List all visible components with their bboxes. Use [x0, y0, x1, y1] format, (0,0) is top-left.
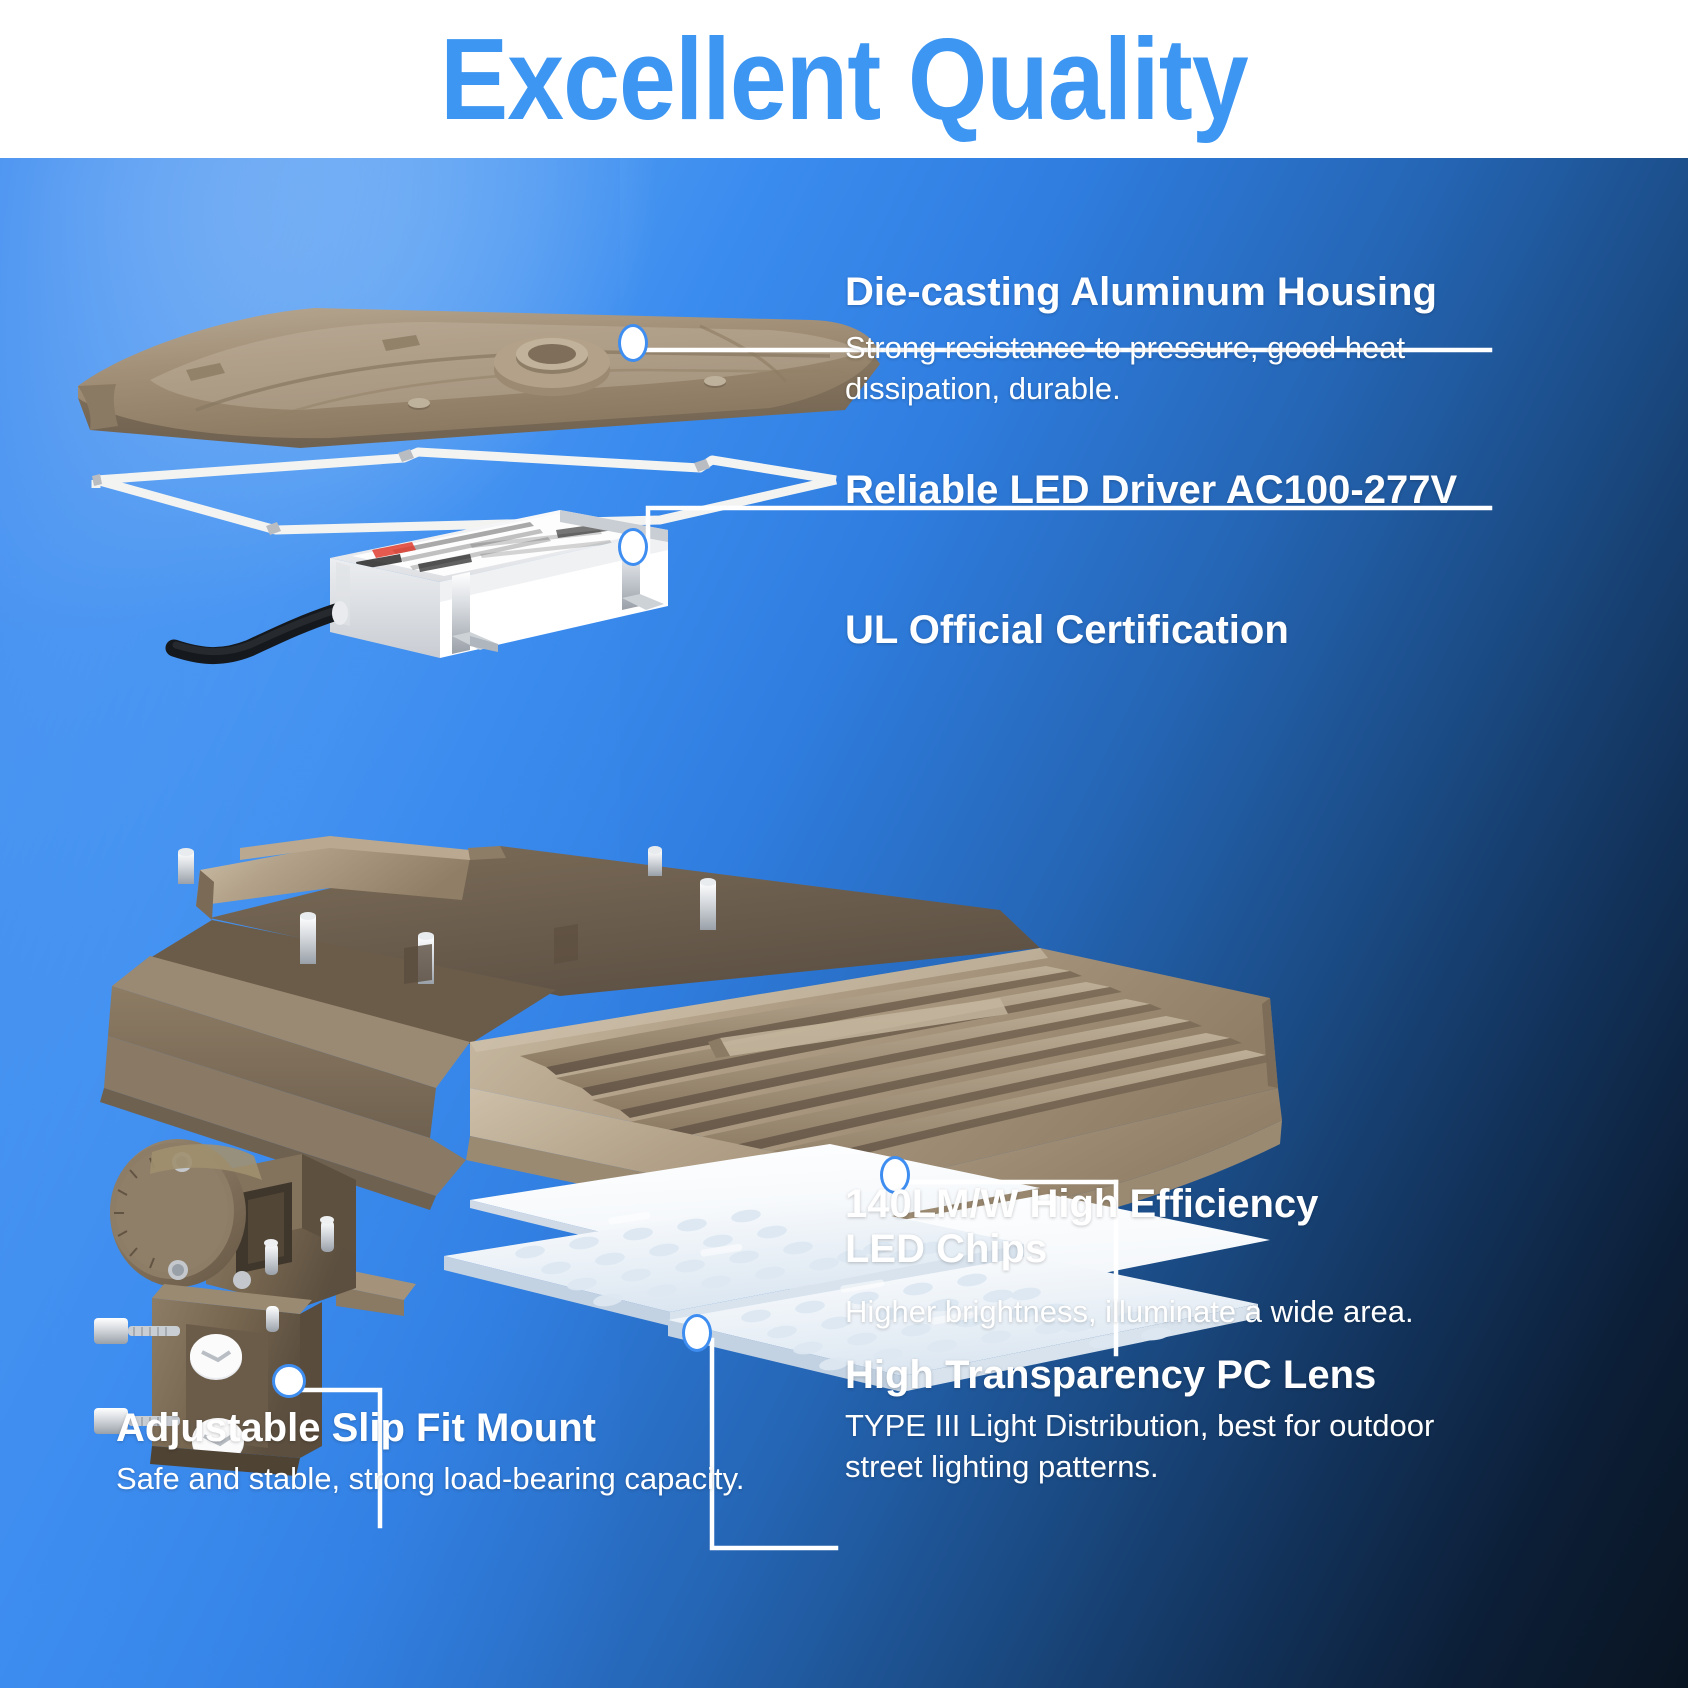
feature-ul-certification: UL Official Certification [845, 608, 1625, 653]
feature-ul-heading: UL Official Certification [845, 608, 1625, 653]
page-title: Excellent Quality [440, 21, 1248, 137]
callout-dot-housing[interactable] [618, 324, 648, 362]
header-band: Excellent Quality [0, 0, 1688, 158]
callout-dot-pc-lens[interactable] [682, 1314, 712, 1352]
callout-dot-driver[interactable] [618, 528, 648, 566]
part-gasket [96, 452, 836, 530]
feature-pc-lens: High Transparency PC Lens TYPE III Light… [845, 1353, 1605, 1488]
feature-mount-heading: Adjustable Slip Fit Mount [116, 1406, 796, 1451]
feature-pc-lens-body: TYPE III Light Distribution, best for ou… [845, 1406, 1605, 1488]
callout-dot-mount[interactable] [272, 1364, 306, 1398]
feature-led-chips: 140LM/W High Efficiency LED Chips Higher… [845, 1182, 1585, 1333]
feature-pc-lens-heading: High Transparency PC Lens [845, 1353, 1605, 1398]
feature-driver-heading: Reliable LED Driver AC100-277V [845, 468, 1625, 513]
feature-led-chips-heading: 140LM/W High Efficiency LED Chips [845, 1182, 1585, 1272]
product-stage: Die-casting Aluminum Housing Strong resi… [0, 158, 1688, 1688]
feature-mount-body: Safe and stable, strong load-bearing cap… [116, 1459, 796, 1500]
feature-led-chips-body: Higher brightness, illuminate a wide are… [845, 1292, 1585, 1333]
feature-slip-fit-mount: Adjustable Slip Fit Mount Safe and stabl… [116, 1406, 796, 1500]
feature-housing-heading: Die-casting Aluminum Housing [845, 270, 1605, 315]
feature-driver: Reliable LED Driver AC100-277V [845, 468, 1625, 513]
feature-housing-body: Strong resistance to pressure, good heat… [845, 328, 1605, 410]
part-top-cover [78, 308, 880, 448]
part-led-driver [174, 510, 668, 658]
feature-housing: Die-casting Aluminum Housing Strong resi… [845, 270, 1605, 410]
